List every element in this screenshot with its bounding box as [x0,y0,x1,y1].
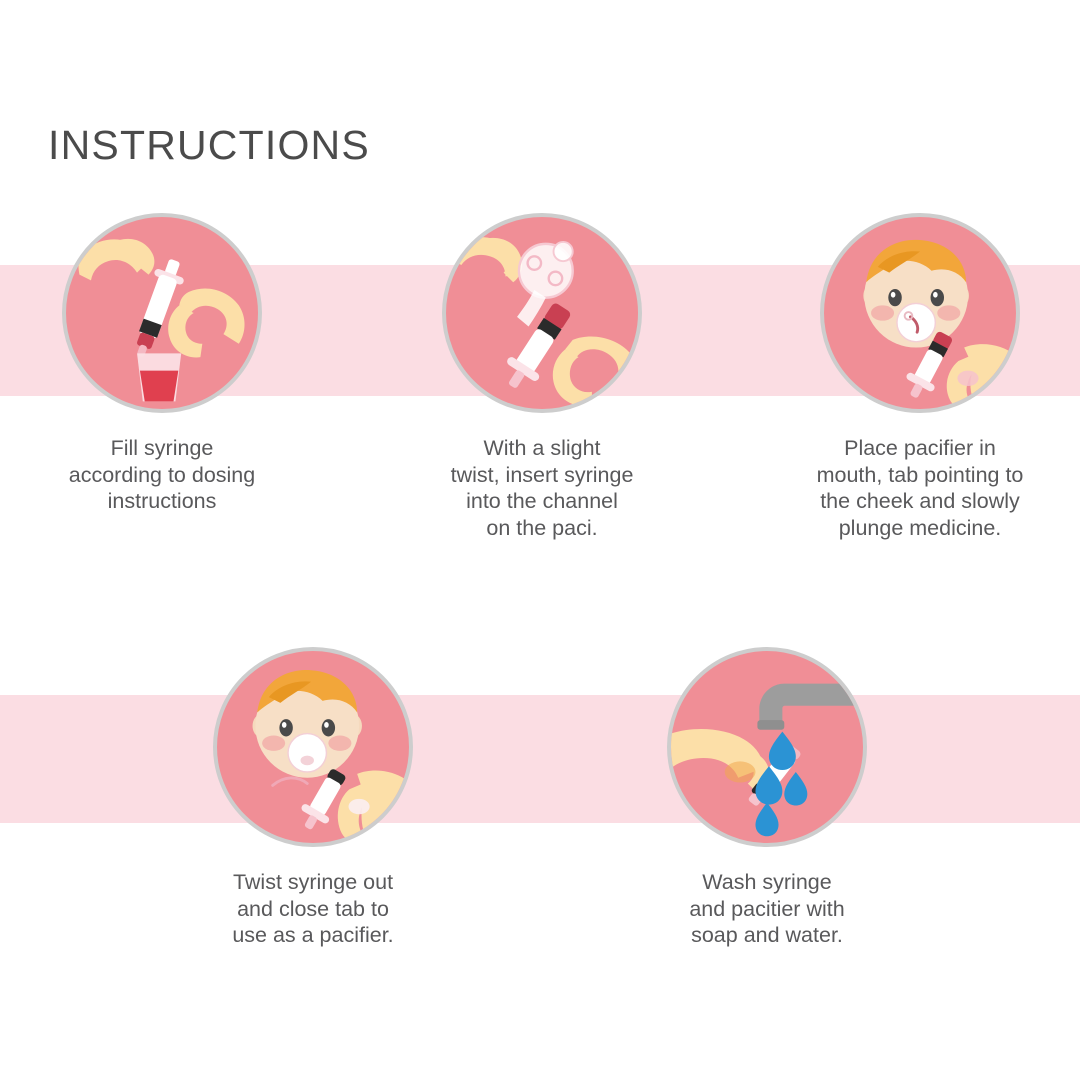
step-1-caption-line-3: instructions [12,488,312,515]
instructions-infographic: INSTRUCTIONS [0,0,1080,1080]
step-4-caption-line-3: use as a pacifier. [163,922,463,949]
instruction-step-2: With a slight twist, insert syringe into… [392,213,692,541]
instruction-step-3: Place pacifier in mouth, tab pointing to… [770,213,1070,541]
step-5-caption-line-1: Wash syringe [617,869,917,896]
step-2-caption-line-4: on the paci. [392,515,692,542]
step-4-illustration [213,647,413,847]
wash-under-faucet-icon [671,651,863,843]
step-1-illustration [62,213,262,413]
step-5-caption-line-2: and pacitier with [617,896,917,923]
step-2-illustration [442,213,642,413]
step-2-caption-line-3: into the channel [392,488,692,515]
step-3-caption-line-1: Place pacifier in [770,435,1070,462]
instruction-step-5: Wash syringe and pacitier with soap and … [617,647,917,949]
baby-with-pacifier-plunge-icon [824,217,1016,409]
baby-twist-syringe-out-icon [217,651,409,843]
step-4-caption: Twist syringe out and close tab to use a… [163,869,463,949]
step-3-illustration [820,213,1020,413]
step-3-caption-line-3: the cheek and slowly [770,488,1070,515]
step-3-caption-line-4: plunge medicine. [770,515,1070,542]
step-4-caption-line-1: Twist syringe out [163,869,463,896]
decorative-band-bottom [0,695,1080,823]
step-2-caption-line-2: twist, insert syringe [392,462,692,489]
step-5-caption: Wash syringe and pacitier with soap and … [617,869,917,949]
step-1-caption: Fill syringe according to dosing instruc… [12,435,312,515]
syringe-filling-from-cup-icon [66,217,258,409]
step-4-caption-line-2: and close tab to [163,896,463,923]
step-3-caption-line-2: mouth, tab pointing to [770,462,1070,489]
syringe-into-pacifier-icon [446,217,638,409]
step-3-caption: Place pacifier in mouth, tab pointing to… [770,435,1070,541]
instruction-step-1: Fill syringe according to dosing instruc… [12,213,312,515]
step-1-caption-line-1: Fill syringe [12,435,312,462]
step-5-illustration [667,647,867,847]
step-5-caption-line-3: soap and water. [617,922,917,949]
instruction-step-4: Twist syringe out and close tab to use a… [163,647,463,949]
page-title: INSTRUCTIONS [48,121,370,169]
step-2-caption: With a slight twist, insert syringe into… [392,435,692,541]
step-1-caption-line-2: according to dosing [12,462,312,489]
step-2-caption-line-1: With a slight [392,435,692,462]
